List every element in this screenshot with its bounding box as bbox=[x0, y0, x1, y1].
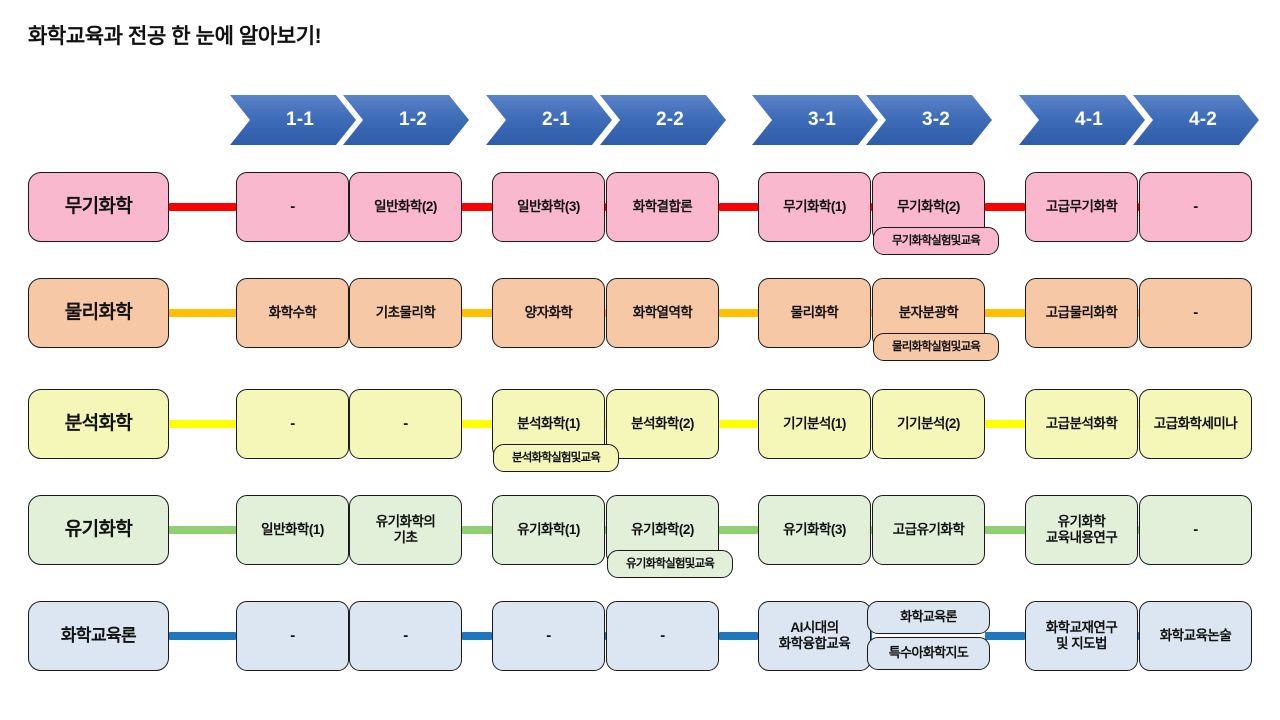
semester-chevron-4-1: 4-1 bbox=[1019, 95, 1145, 145]
semester-chevron-1-2: 1-2 bbox=[343, 95, 469, 145]
course-cell-analytical-1: - bbox=[349, 389, 462, 459]
track-connector-education-0 bbox=[169, 632, 236, 640]
track-label-physical: 물리화학 bbox=[28, 278, 169, 348]
course-cell-physical-4: 물리화학 bbox=[758, 278, 871, 348]
track-connector-physical-3 bbox=[985, 309, 1025, 317]
track-connector-education-2 bbox=[719, 632, 758, 640]
lab-course-cell-inorganic-5: 무기화학실험및교육 bbox=[873, 227, 999, 255]
course-cell-organic-7: - bbox=[1139, 495, 1252, 565]
course-cell-inorganic-2: 일반화학(3) bbox=[492, 172, 605, 242]
track-connector-physical-2 bbox=[719, 309, 758, 317]
track-row-physical: 물리화학화학수학기초물리학양자화학화학열역학물리화학분자분광학물리화학실험및교육… bbox=[0, 278, 1280, 388]
course-cell-inorganic-4: 무기화학(1) bbox=[758, 172, 871, 242]
course-cell-physical-2: 양자화학 bbox=[492, 278, 605, 348]
track-row-analytical: 분석화학--분석화학(1)분석화학실험및교육분석화학(2)기기분석(1)기기분석… bbox=[0, 389, 1280, 499]
course-cell-analytical-6: 고급분석화학 bbox=[1025, 389, 1138, 459]
track-connector-inorganic-0 bbox=[169, 203, 236, 211]
course-cell-analytical-0: - bbox=[236, 389, 349, 459]
course-cell-education-7: 화학교육논술 bbox=[1139, 601, 1252, 671]
track-row-inorganic: 무기화학-일반화학(2)일반화학(3)화학결합론무기화학(1)무기화학(2)무기… bbox=[0, 172, 1280, 282]
track-connector-organic-2 bbox=[719, 526, 758, 534]
course-cell-physical-6: 고급물리화학 bbox=[1025, 278, 1138, 348]
course-cell-analytical-3: 분석화학(2) bbox=[606, 389, 719, 459]
track-connector-organic-0 bbox=[169, 526, 236, 534]
semester-chevron-4-2: 4-2 bbox=[1133, 95, 1259, 145]
curriculum-diagram: 화학교육과 전공 한 눈에 알아보기! 1-11-22-12-23-13-24-… bbox=[0, 0, 1280, 720]
course-cell-education-1: - bbox=[349, 601, 462, 671]
track-label-analytical: 분석화학 bbox=[28, 389, 169, 459]
track-row-organic: 유기화학일반화학(1)유기화학의기초유기화학(1)유기화학(2)유기화학실험및교… bbox=[0, 495, 1280, 605]
course-cell-analytical-4: 기기분석(1) bbox=[758, 389, 871, 459]
course-cell-education-3: - bbox=[606, 601, 719, 671]
track-connector-analytical-2 bbox=[719, 420, 758, 428]
course-cell-physical-0: 화학수학 bbox=[236, 278, 349, 348]
track-connector-organic-1 bbox=[462, 526, 492, 534]
lab-course-cell-analytical-2: 분석화학실험및교육 bbox=[493, 444, 619, 472]
page-title: 화학교육과 전공 한 눈에 알아보기! bbox=[28, 20, 321, 50]
course-cell-inorganic-6: 고급무기화학 bbox=[1025, 172, 1138, 242]
course-cell-organic-0: 일반화학(1) bbox=[236, 495, 349, 565]
track-connector-analytical-3 bbox=[985, 420, 1025, 428]
lab-course-cell-organic-3: 유기화학실험및교육 bbox=[607, 550, 733, 578]
lab-course-cell-physical-5: 물리화학실험및교육 bbox=[873, 333, 999, 361]
course-cell-physical-3: 화학열역학 bbox=[606, 278, 719, 348]
track-connector-inorganic-1 bbox=[462, 203, 492, 211]
course-cell-education-4: AI시대의화학융합교육 bbox=[758, 601, 871, 671]
track-label-education: 화학교육론 bbox=[28, 601, 169, 671]
course-cell-education-2: - bbox=[492, 601, 605, 671]
track-connector-analytical-0 bbox=[169, 420, 236, 428]
course-cell-physical-1: 기초물리학 bbox=[349, 278, 462, 348]
course-cell-education-5-0: 화학교육론 bbox=[867, 601, 990, 634]
course-cell-inorganic-1: 일반화학(2) bbox=[349, 172, 462, 242]
track-label-organic: 유기화학 bbox=[28, 495, 169, 565]
course-cell-analytical-5: 기기분석(2) bbox=[872, 389, 985, 459]
track-connector-education-1 bbox=[462, 632, 492, 640]
course-cell-organic-1: 유기화학의기초 bbox=[349, 495, 462, 565]
track-row-education: 화학교육론----AI시대의화학융합교육화학교육론특수아화학지도화학교재연구및 … bbox=[0, 601, 1280, 711]
course-cell-organic-6: 유기화학교육내용연구 bbox=[1025, 495, 1138, 565]
track-connector-education-3 bbox=[985, 632, 1025, 640]
course-cell-physical-7: - bbox=[1139, 278, 1252, 348]
course-cell-organic-2: 유기화학(1) bbox=[492, 495, 605, 565]
course-cell-analytical-7: 고급화학세미나 bbox=[1139, 389, 1252, 459]
track-connector-physical-0 bbox=[169, 309, 236, 317]
course-cell-inorganic-0: - bbox=[236, 172, 349, 242]
course-cell-inorganic-7: - bbox=[1139, 172, 1252, 242]
semester-chevron-3-2: 3-2 bbox=[866, 95, 992, 145]
semester-chevron-2-1: 2-1 bbox=[486, 95, 612, 145]
semester-header-band: 1-11-22-12-23-13-24-14-2 bbox=[0, 95, 1280, 145]
track-connector-analytical-1 bbox=[462, 420, 492, 428]
track-connector-inorganic-2 bbox=[719, 203, 758, 211]
semester-chevron-3-1: 3-1 bbox=[752, 95, 878, 145]
course-cell-inorganic-3: 화학결합론 bbox=[606, 172, 719, 242]
track-label-inorganic: 무기화학 bbox=[28, 172, 169, 242]
course-cell-education-6: 화학교재연구및 지도법 bbox=[1025, 601, 1138, 671]
course-cell-organic-4: 유기화학(3) bbox=[758, 495, 871, 565]
track-connector-inorganic-3 bbox=[985, 203, 1025, 211]
semester-chevron-2-2: 2-2 bbox=[600, 95, 726, 145]
semester-chevron-1-1: 1-1 bbox=[230, 95, 356, 145]
course-cell-education-5-1: 특수아화학지도 bbox=[867, 637, 990, 670]
track-connector-physical-1 bbox=[462, 309, 492, 317]
course-cell-education-0: - bbox=[236, 601, 349, 671]
course-cell-organic-5: 고급유기화학 bbox=[872, 495, 985, 565]
track-connector-organic-3 bbox=[985, 526, 1025, 534]
